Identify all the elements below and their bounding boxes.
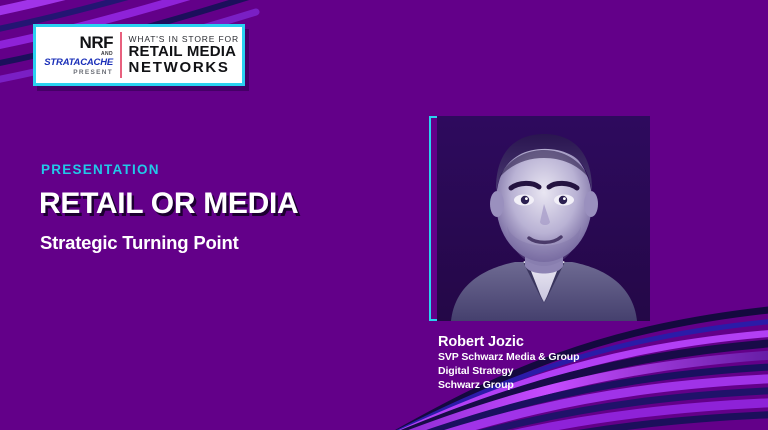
page-title: RETAIL OR MEDIA <box>39 189 298 219</box>
logo-title-line1: RETAIL MEDIA <box>129 44 243 60</box>
stratacache-wordmark: STRATACACHE <box>44 58 113 68</box>
speaker-portrait-photo <box>437 116 650 321</box>
speaker-company: Schwarz Group <box>438 379 579 393</box>
present-label: PRESENT <box>73 70 113 77</box>
speaker-credit-block: Robert Jozic SVP Schwarz Media & Group D… <box>438 334 579 393</box>
presentation-eyebrow-label: PRESENTATION <box>41 163 160 177</box>
logo-event-title: WHAT'S IN STORE FOR RETAIL MEDIA NETWORK… <box>122 27 243 83</box>
logo-presenters: NRF AND STRATACACHE PRESENT <box>36 27 120 83</box>
nrf-stratacache-logo-card: NRF AND STRATACACHE PRESENT WHAT'S IN ST… <box>33 24 245 86</box>
speaker-role-line2: Digital Strategy <box>438 365 579 379</box>
nrf-wordmark: NRF <box>80 34 113 51</box>
portrait-illustration <box>437 116 650 321</box>
speaker-name: Robert Jozic <box>438 334 579 351</box>
speaker-role-line1: SVP Schwarz Media & Group <box>438 351 579 365</box>
logo-title-line2: NETWORKS <box>129 60 243 76</box>
presentation-slide: NRF AND STRATACACHE PRESENT WHAT'S IN ST… <box>0 0 768 430</box>
page-subtitle: Strategic Turning Point <box>40 232 239 254</box>
